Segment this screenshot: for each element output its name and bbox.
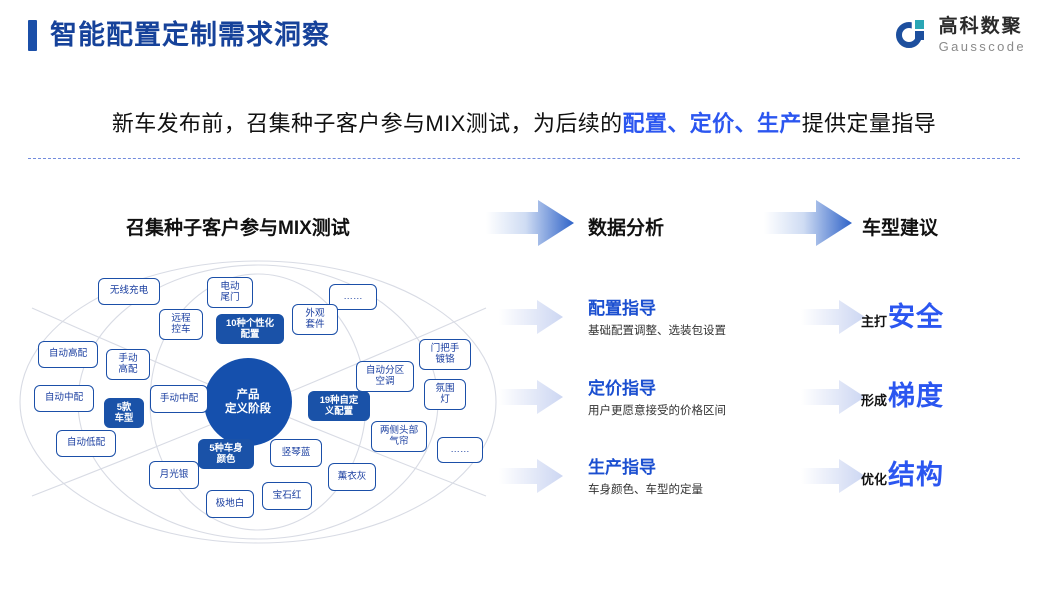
row-arrow-icon-right-2 bbox=[801, 380, 865, 414]
mindmap-node-19-custom[interactable]: 19种自定 义配置 bbox=[308, 391, 370, 421]
analysis-row-title: 生产指导 bbox=[588, 459, 818, 478]
analysis-row-desc: 车身颜色、车型的定量 bbox=[588, 484, 818, 497]
analysis-row-desc: 用户更愿意接受的价格区间 bbox=[588, 405, 818, 418]
page-title: 智能配置定制需求洞察 bbox=[28, 20, 330, 51]
mindmap-node-power-tailgate[interactable]: 电动 尾门 bbox=[207, 277, 253, 308]
dashed-divider bbox=[28, 158, 1020, 159]
mindmap-node-ambient-light[interactable]: 氛围 灯 bbox=[424, 379, 466, 410]
row-arrow-icon-right-1 bbox=[801, 300, 865, 334]
row-arrow-icon-left-1 bbox=[499, 300, 563, 334]
suggestion-prefix: 优化 bbox=[861, 469, 887, 488]
mindmap-node-chrome-door-handle[interactable]: 门把手 镀铬 bbox=[419, 339, 471, 370]
mindmap-node-wireless-charging[interactable]: 无线充电 bbox=[98, 278, 160, 305]
logo-name-cn: 高科数聚 bbox=[939, 17, 1026, 36]
mindmap-node-ellipsis-right[interactable]: …… bbox=[437, 437, 483, 463]
logo-name-en: Gausscode bbox=[939, 40, 1026, 53]
mindmap-core-node[interactable]: 产品 定义阶段 bbox=[204, 358, 292, 446]
flow-arrow-icon-1 bbox=[486, 200, 574, 246]
logo-wordmark: 高科数聚 Gausscode bbox=[939, 17, 1026, 53]
subtitle-part-2: 提供定量指导 bbox=[802, 111, 936, 136]
row-arrow-icon-left-3 bbox=[499, 459, 563, 493]
gausscode-logo-icon bbox=[896, 18, 930, 52]
slide-header: 智能配置定制需求洞察 高科数聚 Gausscode bbox=[0, 0, 1048, 78]
mindmap-node-5-models[interactable]: 5款 车型 bbox=[104, 398, 144, 428]
mindmap-node-auto-low-trim[interactable]: 自动低配 bbox=[56, 430, 116, 457]
mindmap-node-color-harp-blue[interactable]: 竖琴蓝 bbox=[270, 439, 322, 467]
analysis-row-title: 配置指导 bbox=[588, 300, 818, 319]
slide-subtitle: 新车发布前，召集种子客户参与MIX测试，为后续的配置、定价、生产提供定量指导 bbox=[0, 106, 1048, 138]
subtitle-part-1: 新车发布前，召集种子客户参与MIX测试，为后续的 bbox=[112, 111, 623, 136]
column-heading-mid: 数据分析 bbox=[588, 213, 664, 240]
mindmap-node-manual-high-trim[interactable]: 手动 高配 bbox=[106, 349, 150, 380]
title-accent-bar bbox=[28, 20, 37, 51]
mindmap-node-dual-zone-ac[interactable]: 自动分区 空调 bbox=[356, 361, 414, 392]
analysis-row-title: 定价指导 bbox=[588, 380, 818, 399]
suggestion-prefix: 主打 bbox=[861, 311, 887, 330]
mindmap-node-5-body-colors[interactable]: 5种车身 颜色 bbox=[198, 439, 254, 469]
analysis-row[interactable]: 配置指导 基础配置调整、选装包设置 bbox=[588, 300, 818, 337]
column-heading-right: 车型建议 bbox=[862, 213, 938, 240]
mindmap-node-exterior-kit[interactable]: 外观 套件 bbox=[292, 304, 338, 335]
mindmap-node-color-polar-white[interactable]: 极地白 bbox=[206, 490, 254, 518]
suggestion-row[interactable]: 形成 梯度 bbox=[861, 374, 944, 413]
flow-arrow-icon-2 bbox=[764, 200, 852, 246]
mindmap-node-auto-high-trim[interactable]: 自动高配 bbox=[38, 341, 98, 368]
mindmap-node-remote-control[interactable]: 远程 控车 bbox=[159, 309, 203, 340]
mindmap-node-auto-mid-trim[interactable]: 自动中配 bbox=[34, 385, 94, 412]
title-text: 智能配置定制需求洞察 bbox=[50, 22, 330, 49]
suggestion-word: 安全 bbox=[888, 295, 944, 334]
logo-square-teal bbox=[915, 20, 924, 29]
suggestion-word: 梯度 bbox=[888, 374, 944, 413]
mindmap-diagram: 产品 定义阶段 无线充电 电动 尾门 …… 远程 控车 10种个性化 配置 外观… bbox=[18, 258, 498, 546]
suggestion-prefix: 形成 bbox=[861, 390, 887, 409]
subtitle-highlight: 配置、定价、生产 bbox=[623, 111, 802, 136]
mindmap-node-color-moonlight-silver[interactable]: 月光银 bbox=[149, 461, 199, 489]
column-heading-left: 召集种子客户参与MIX测试 bbox=[126, 213, 350, 240]
mindmap-node-color-ruby-red[interactable]: 宝石红 bbox=[262, 482, 312, 510]
row-arrow-icon-right-3 bbox=[801, 459, 865, 493]
row-arrow-icon-left-2 bbox=[499, 380, 563, 414]
mindmap-node-10-personalized[interactable]: 10种个性化 配置 bbox=[216, 314, 284, 344]
suggestion-row[interactable]: 优化 结构 bbox=[861, 453, 944, 492]
slide-root: 智能配置定制需求洞察 高科数聚 Gausscode 新车发布前，召集种子客户参与… bbox=[0, 0, 1048, 589]
analysis-row[interactable]: 定价指导 用户更愿意接受的价格区间 bbox=[588, 380, 818, 417]
analysis-row[interactable]: 生产指导 车身颜色、车型的定量 bbox=[588, 459, 818, 496]
suggestion-word: 结构 bbox=[888, 453, 944, 492]
brand-logo: 高科数聚 Gausscode bbox=[896, 17, 1026, 53]
mindmap-node-color-lavender-gray[interactable]: 薰衣灰 bbox=[328, 463, 376, 491]
mindmap-node-side-head-airbag[interactable]: 两侧头部 气帘 bbox=[371, 421, 427, 452]
analysis-row-desc: 基础配置调整、选装包设置 bbox=[588, 325, 818, 338]
mindmap-node-manual-mid-trim[interactable]: 手动中配 bbox=[150, 385, 208, 413]
logo-square-blue bbox=[915, 31, 924, 40]
suggestion-row[interactable]: 主打 安全 bbox=[861, 295, 944, 334]
